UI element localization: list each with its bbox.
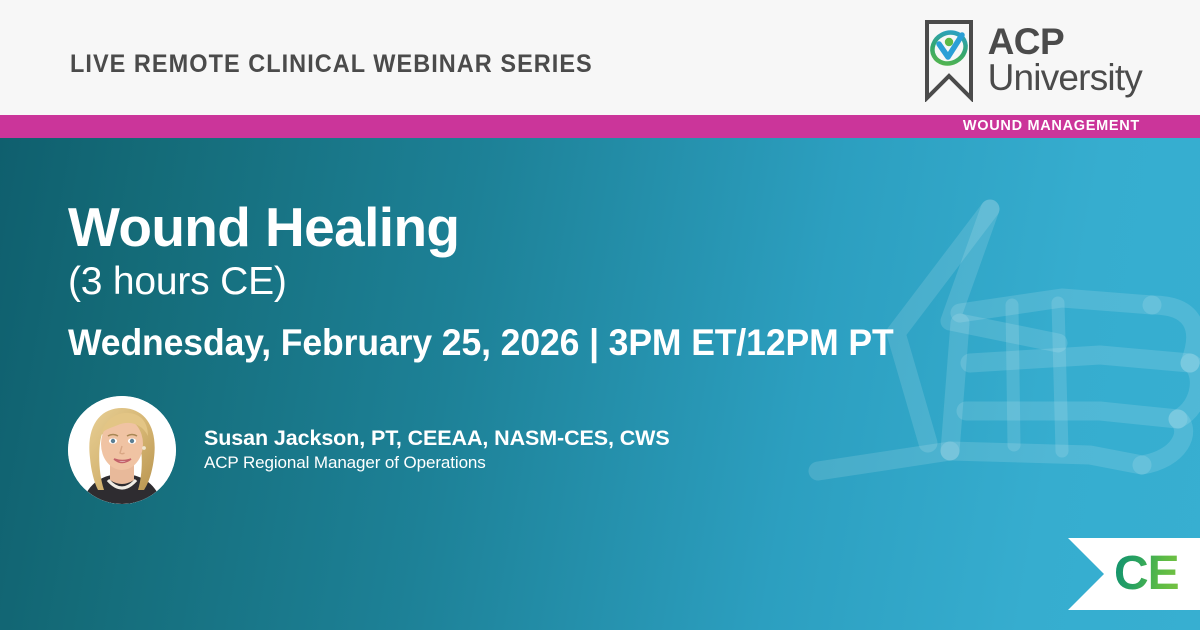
webinar-promo-card: LIVE REMOTE CLINICAL WEBINAR SERIES [0,0,1200,630]
ce-badge: CE [1068,538,1200,610]
page-title: LIVE REMOTE CLINICAL WEBINAR SERIES [70,50,593,79]
category-band: WOUND MANAGEMENT [0,115,1200,138]
category-label: WOUND MANAGEMENT [963,115,1140,138]
speaker-info: Susan Jackson, PT, CEEAA, NASM-CES, CWS … [204,425,670,475]
logo-university-text: University [988,60,1142,96]
ce-badge-label: CE [1114,550,1179,598]
speaker-block: Susan Jackson, PT, CEEAA, NASM-CES, CWS … [68,396,670,504]
hero-section: Wound Healing (3 hours CE) Wednesday, Fe… [0,138,1200,630]
header-bar: LIVE REMOTE CLINICAL WEBINAR SERIES [0,0,1200,115]
webinar-datetime: Wednesday, February 25, 2026 | 3PM ET/12… [68,324,894,361]
logo-wordmark: ACP University [988,24,1142,95]
webinar-subtitle: (3 hours CE) [68,262,287,301]
acp-bookmark-icon [921,18,977,102]
acp-university-logo: ACP University [921,18,1142,102]
speaker-role: ACP Regional Manager of Operations [204,452,670,475]
avatar [68,396,176,504]
webinar-title: Wound Healing [68,200,459,255]
logo-acp-text: ACP [988,24,1142,60]
speaker-name: Susan Jackson, PT, CEEAA, NASM-CES, CWS [204,425,670,452]
